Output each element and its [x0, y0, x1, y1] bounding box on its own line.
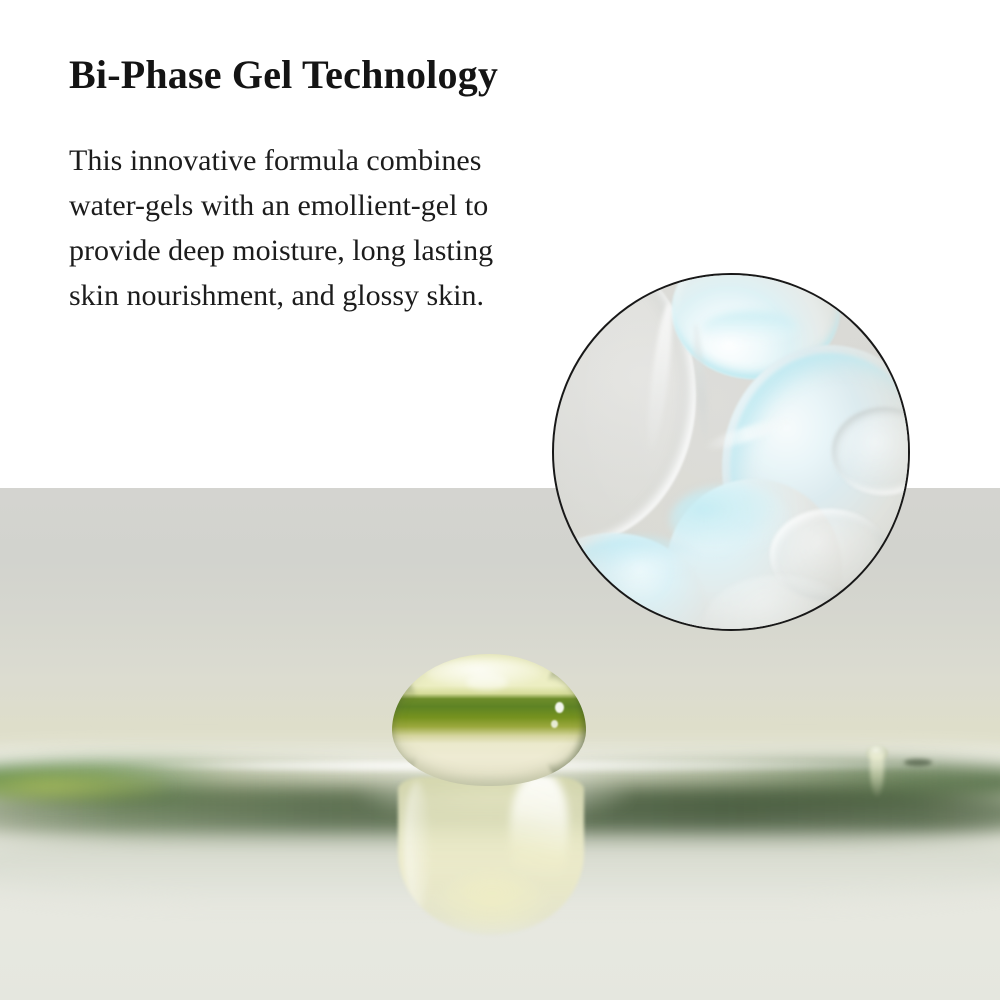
reflection-left-edge	[404, 781, 430, 911]
droplet-reflection	[398, 777, 584, 935]
body-paragraph: This innovative formula combines water-g…	[69, 138, 521, 318]
reflection-specular-highlight	[510, 777, 568, 893]
droplet-inner-gloss	[466, 674, 508, 690]
oil-droplet	[392, 654, 586, 786]
droplet-highlight-dot-lower	[551, 720, 558, 728]
bubble-macro-inset	[552, 273, 910, 631]
page-title: Bi-Phase Gel Technology	[69, 52, 498, 98]
product-feature-panel: Bi-Phase Gel Technology This innovative …	[0, 0, 1000, 1000]
droplet-right-rim	[540, 662, 586, 782]
droplet-left-rim	[392, 678, 420, 778]
surface-dark-fleck	[904, 759, 932, 766]
inset-vignette	[554, 275, 908, 629]
reflection-core	[440, 875, 544, 931]
droplet-highlight-dot-upper	[555, 702, 564, 713]
